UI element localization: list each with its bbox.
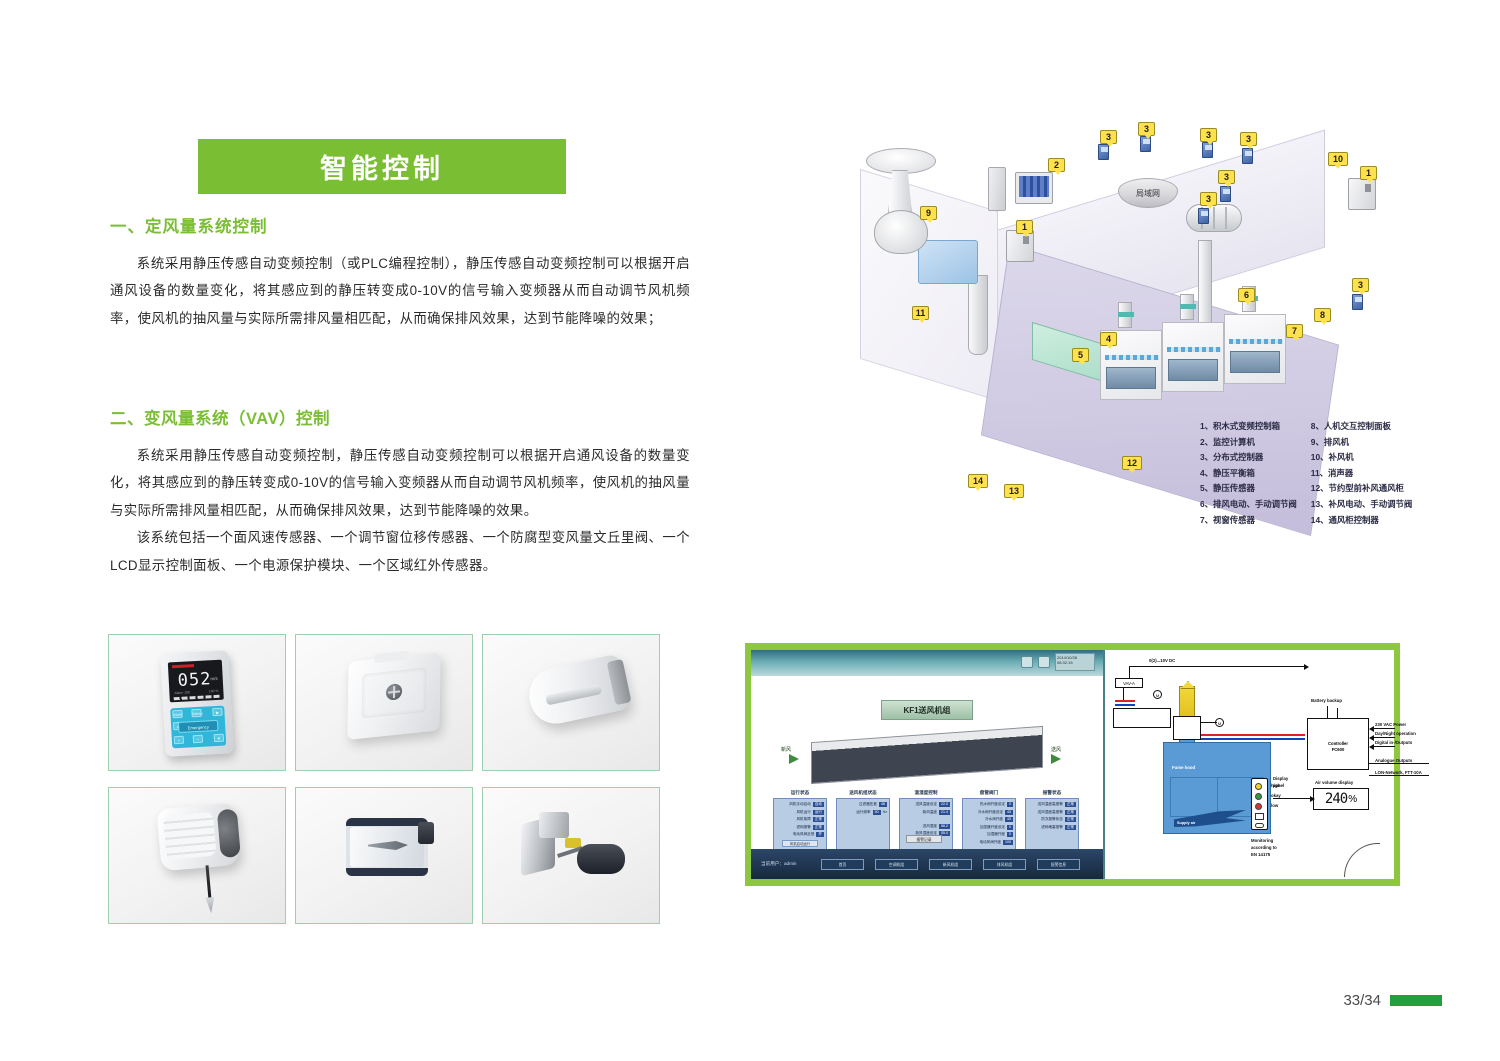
exhaust-damper-box — [1173, 716, 1201, 740]
callout-2: 2 — [1048, 158, 1065, 172]
air-volume-unit: % — [1348, 794, 1357, 805]
monitoring-pc-tower — [988, 167, 1006, 211]
legend-item-2: 2、监控计算机 — [1200, 436, 1297, 448]
p4-r0-label: 送风温度高报警 — [1038, 802, 1063, 807]
p3-r4-value: 0 — [1007, 832, 1013, 837]
callout-3f: 3 — [1200, 192, 1217, 206]
section-two-paragraph-1: 系统采用静压传感自动变频控制，静压传感自动变频控制可以根据开启通风设备的数量变化… — [110, 442, 690, 524]
diagram-legend: 1、积木式变频控制箱 2、监控计算机 3、分布式控制器 4、静压平衡箱 5、静压… — [1200, 420, 1500, 540]
p0-r1-value: 运行 — [813, 810, 824, 815]
hood-control-strip-3 — [1229, 339, 1283, 344]
section-constant-air-volume: 一、定风量系统控制 系统采用静压传感自动变频控制（或PLC编程控制），静压传感自… — [110, 213, 690, 332]
fresh-air-arrow-icon — [789, 754, 799, 764]
vav-schematic-view: 0(2)...10V DC VAV-A M M — [1103, 650, 1394, 879]
probe-tip — [205, 897, 215, 914]
callout-3c: 3 — [1200, 128, 1217, 142]
hmi-tab-ahu[interactable]: 空调机组 — [875, 859, 918, 870]
p2-r0-label: 送风温度设定 — [915, 802, 937, 807]
rotary-knob-icon — [386, 683, 402, 701]
exhaust-duct — [968, 275, 988, 355]
callout-3b: 3 — [1138, 122, 1155, 136]
key-mute[interactable]: Mute — [172, 710, 182, 719]
product-cell-airflow-sensor[interactable] — [482, 634, 660, 771]
controller-fc600-box: Controller FC600 — [1307, 718, 1369, 770]
vav-red-line — [1115, 700, 1135, 702]
section-one-paragraph: 系统采用静压传感自动变频控制（或PLC编程控制），静压传感自动变频控制可以根据开… — [110, 250, 690, 332]
hmi-settings-icon[interactable] — [1021, 656, 1033, 668]
hmi-tab-bar: 首页 空调机组 新风机组 排风机组 报警信息 — [821, 859, 1080, 870]
monitoring-line-2: according to — [1251, 845, 1277, 850]
io-line-1 — [1373, 728, 1395, 729]
lcd-control-panel-image: 052 m/s Alarm 100 100 % Mute Menu ◀ ▶ + … — [160, 650, 233, 756]
panel-lip — [375, 650, 409, 663]
hood-stack-1 — [1118, 302, 1132, 328]
section-variable-air-volume: 二、变风量系统（VAV）控制 系统采用静压传感自动变频控制，静压传感自动变频控制… — [110, 405, 690, 579]
key-minus[interactable]: − — [193, 735, 203, 744]
supply-air-label: 送风 — [1051, 746, 1061, 753]
panel-header-2: 温湿度控制 — [899, 790, 953, 796]
air-handling-unit-graphic — [811, 726, 1043, 784]
p3-r3-value: 0 — [1007, 825, 1013, 830]
led-low-icon — [1255, 803, 1262, 810]
fume-hood-row — [1100, 316, 1310, 402]
hood-sash-2 — [1168, 359, 1218, 381]
schematic-red-bus — [1201, 734, 1305, 736]
section-two-heading: 二、变风量系统（VAV）控制 — [110, 405, 690, 429]
p3-r3-label: 加湿器开度设定 — [980, 825, 1005, 830]
p0-r3-label: 滤网报警 — [796, 825, 810, 830]
callout-8: 8 — [1314, 308, 1331, 322]
display-to-volume-line — [1273, 798, 1311, 799]
venturi-valve-image — [346, 818, 428, 876]
legend-item-3: 3、分布式控制器 — [1200, 451, 1297, 463]
p0-r4-label: 电动风阀反馈 — [793, 832, 815, 837]
io-label-digital: Digital in-/Outputs — [1375, 740, 1412, 745]
led-label-high: high — [1271, 783, 1280, 788]
battery-lead-1 — [1327, 706, 1328, 718]
hood-sash-1 — [1106, 367, 1156, 389]
p1-r1-unit: Hz — [883, 810, 887, 815]
schematic-blue-bus — [1201, 738, 1305, 740]
fan-neck — [888, 170, 912, 214]
hood-stack-2 — [1180, 294, 1194, 320]
hmi-bottom-toolbar: 当前用户：admin 首页 空调机组 新风机组 排风机组 报警信息 — [751, 849, 1103, 879]
monitoring-line-3: EN 14175 — [1251, 852, 1270, 857]
legend-item-1: 1、积木式变频控制箱 — [1200, 420, 1297, 432]
signal-line-drop — [1129, 666, 1130, 678]
exhaust-stack — [1179, 686, 1195, 720]
callout-3a: 3 — [1100, 130, 1117, 144]
p3-r0-label: 热水阀开度设定 — [980, 802, 1005, 807]
hmi-tab-home[interactable]: 首页 — [821, 859, 864, 870]
fresh-air-label: 新风 — [781, 746, 791, 753]
led-okay-icon — [1255, 793, 1262, 800]
system-isometric-diagram: 局域网 3 3 3 3 3 3 2 1 9 11 1 10 3 6 7 8 4 … — [800, 120, 1420, 550]
p2-r1-label: 新风温度 — [923, 810, 937, 815]
p1-r1-value: 50 — [873, 810, 881, 815]
legend-item-10: 10、补风机 — [1311, 451, 1412, 463]
p3-r1-value: 45 — [1005, 810, 1013, 815]
legend-item-4: 4、静压平衡箱 — [1200, 467, 1297, 479]
exhaust-motor-link — [1201, 722, 1217, 723]
p3-r4-label: 加湿器开度 — [987, 832, 1005, 837]
emergency-button[interactable]: Emergency — [178, 720, 219, 733]
product-cell-lcd-control-panel[interactable]: 052 m/s Alarm 100 100 % Mute Menu ◀ ▶ + … — [108, 634, 286, 771]
hmi-clock: 2014/10/28 08:32:15 — [1055, 653, 1095, 671]
key-menu[interactable]: Menu — [191, 709, 201, 718]
monitoring-line-1: Monitoring — [1251, 838, 1273, 843]
key-down[interactable]: ▼ — [214, 734, 224, 743]
controller-model: FC600 — [1308, 747, 1368, 753]
distributed-controller-node-4 — [1242, 148, 1253, 164]
fume-hood-label: Fume hood — [1172, 765, 1195, 770]
io-line-3 — [1373, 746, 1395, 747]
probe-stem — [206, 865, 212, 899]
sensor-slot — [545, 684, 602, 705]
supply-air-arrow-icon — [1051, 754, 1061, 764]
hmi-tab-exhaust[interactable]: 排风机组 — [983, 859, 1026, 870]
hmi-tab-freshair[interactable]: 新风机组 — [929, 859, 972, 870]
p0-r0-label: 风机手动自动 — [789, 802, 811, 807]
product-cell-infrared-sensor[interactable] — [108, 787, 286, 924]
callout-13: 13 — [1004, 484, 1024, 498]
product-cell-venturi-valve[interactable] — [295, 787, 473, 924]
section-two-paragraph-2: 该系统包括一个面风速传感器、一个调节窗位移传感器、一个防腐型变风量文丘里阀、一个… — [110, 524, 690, 579]
io-line-2 — [1373, 737, 1395, 738]
hood-control-strip-1 — [1105, 355, 1159, 360]
distributed-controller-node-5 — [1220, 186, 1231, 202]
supply-air-label: Supply air — [1177, 821, 1195, 825]
lcd-segment-bar — [174, 695, 220, 700]
p3-r5-label: 电动风阀开度 — [979, 840, 1001, 845]
signal-line-top — [1129, 666, 1305, 667]
legend-item-14: 14、通风柜控制器 — [1311, 514, 1412, 526]
hmi-top-toolbar[interactable]: 2014/10/28 08:32:15 — [751, 650, 1103, 676]
callout-5: 5 — [1072, 348, 1089, 362]
p2-r2-value: 56.2 — [939, 824, 950, 829]
callout-4: 4 — [1100, 332, 1117, 346]
battery-backup-label: Battery backup — [1311, 698, 1342, 703]
legend-column-right: 8、人机交互控制面板 9、排风机 10、补风机 11、消声器 12、节约型前补风… — [1311, 420, 1412, 526]
p4-r3-value: 正常 — [1065, 825, 1076, 830]
fan-start-button[interactable]: 风机启动运行 — [782, 840, 818, 847]
callout-6: 6 — [1238, 288, 1255, 302]
battery-lead-2 — [1337, 708, 1338, 718]
display-panel-readout — [1255, 823, 1264, 828]
p0-r0-value: 自动 — [813, 802, 824, 807]
callout-10: 10 — [1328, 152, 1348, 166]
p0-r1-label: 风机运行 — [796, 810, 810, 815]
callout-3g: 3 — [1352, 278, 1369, 292]
p3-r0-value: 0 — [1007, 802, 1013, 807]
wall-mounted-sensor-panel-image — [347, 652, 440, 740]
hmi-unit-title: KF1送风机组 — [881, 700, 973, 720]
legend-column-left: 1、积木式变频控制箱 2、监控计算机 3、分布式控制器 4、静压平衡箱 5、静压… — [1200, 420, 1297, 526]
callout-14: 14 — [968, 474, 988, 488]
p4-r2-value: 正常 — [1065, 817, 1076, 822]
p4-r3-label: 滤网堵塞报警 — [1041, 825, 1063, 830]
supply-air-flow: Supply air — [1174, 810, 1246, 827]
distributed-controller-node-7 — [1352, 294, 1363, 310]
key-plus[interactable]: + — [174, 736, 184, 745]
p4-r2-label: 防冻报警状态 — [1041, 817, 1063, 822]
air-volume-display-title: Air volume display — [1315, 780, 1353, 785]
io-label-daynight: Day/Night operation — [1375, 731, 1416, 736]
hmi-toolbar-icons: 2014/10/28 08:32:15 — [1021, 653, 1095, 671]
legend-item-12: 12、节约型前补风通风柜 — [1311, 482, 1412, 494]
vav-blue-line — [1115, 704, 1135, 706]
lcd-sub-left: Alarm 100 — [174, 690, 190, 695]
callout-9: 9 — [920, 206, 937, 220]
p2-r0-value: 22.0 — [939, 802, 950, 807]
product-cell-damper-assembly[interactable] — [482, 787, 660, 924]
p3-r2-label: 冷水阀开度 — [985, 817, 1003, 822]
legend-item-7: 7、视窗传感器 — [1200, 514, 1297, 526]
page-number: 33/34 — [1343, 992, 1381, 1009]
damper-motor — [577, 844, 625, 874]
display-panel-graphic — [1251, 778, 1268, 830]
product-cell-wall-sensor-panel[interactable] — [295, 634, 473, 771]
p0-r4-value: 开 — [816, 832, 824, 837]
hmi-status-text: 当前用户：admin — [761, 861, 821, 867]
lcd-unit: m/s — [210, 676, 218, 681]
callout-1b: 1 — [1360, 166, 1377, 180]
legend-item-13: 13、补风电动、手动调节阀 — [1311, 498, 1412, 510]
key-right[interactable]: ▶ — [212, 708, 222, 717]
hmi-tab-alarms[interactable]: 报警信息 — [1037, 859, 1080, 870]
hood-control-strip-2 — [1167, 347, 1221, 352]
led-label-low: low — [1271, 803, 1278, 808]
p3-r5-value: 100 — [1003, 840, 1013, 845]
footer-accent-bar — [1390, 995, 1442, 1006]
p1-r0-value: 48 — [879, 802, 887, 807]
p4-r1-label: 送风湿度高报警 — [1038, 810, 1063, 815]
valve-actuator — [418, 822, 434, 844]
hmi-scada-view: 2014/10/28 08:32:15 KF1送风机组 新风 送风 运行状态 风… — [751, 650, 1103, 879]
left-content-column: 智能控制 一、定风量系统控制 系统采用静压传感自动变频控制（或PLC编程控制），… — [0, 0, 740, 1061]
legend-item-8: 8、人机交互控制面板 — [1311, 420, 1412, 432]
lan-label: 局域网 — [1136, 188, 1160, 199]
section-one-heading: 一、定风量系统控制 — [110, 213, 690, 237]
damper-duct-upper — [539, 812, 569, 838]
io-line-5 — [1369, 775, 1429, 776]
page-root: 智能控制 一、定风量系统控制 系统采用静压传感自动变频控制（或PLC编程控制），… — [0, 0, 1500, 1061]
airflow-velocity-sensor-image — [524, 654, 630, 729]
air-volume-display: 240 % — [1313, 788, 1369, 810]
product-image-grid: 052 m/s Alarm 100 100 % Mute Menu ◀ ▶ + … — [108, 634, 668, 924]
air-volume-value: 240 — [1325, 791, 1347, 807]
callout-3d: 3 — [1240, 132, 1257, 146]
distributed-controller-node-6 — [1198, 208, 1209, 224]
supply-air-duct — [1198, 240, 1212, 326]
brand-stripe — [172, 664, 194, 668]
legend-item-6: 6、排风电动、手动调节阀 — [1200, 498, 1297, 510]
vav-damper-box — [1113, 708, 1171, 728]
lcd-value: 052 — [177, 669, 212, 691]
page-title: 智能控制 — [320, 147, 444, 186]
p1-r0-label: 过滤器压差 — [859, 802, 877, 807]
panel-header-3: 盘管阀门 — [962, 790, 1016, 796]
vav-a-box: VAV-A — [1115, 678, 1143, 688]
io-line-4 — [1369, 763, 1429, 764]
fume-hood-unit-3 — [1224, 314, 1286, 384]
legend-item-11: 11、消声器 — [1311, 467, 1412, 479]
p3-r1-label: 冷水阀开度设定 — [978, 810, 1003, 815]
keypad[interactable]: Mute Menu ◀ ▶ + − ▼ Emergency — [170, 706, 226, 749]
callout-11: 11 — [912, 306, 929, 320]
panel-header-1: 送风机组状态 — [836, 790, 890, 796]
legend-item-5: 5、静压传感器 — [1200, 482, 1297, 494]
vav-motor-icon: M — [1153, 690, 1162, 699]
hmi-screenshot-frame: 2014/10/28 08:32:15 KF1送风机组 新风 送风 运行状态 风… — [745, 643, 1400, 886]
p4-r0-value: 正常 — [1065, 802, 1076, 807]
hood-sash-3 — [1230, 351, 1280, 373]
hmi-link-icon[interactable] — [1038, 656, 1050, 668]
p2-r2-label: 送风湿度 — [923, 824, 937, 829]
callout-1a: 1 — [1016, 220, 1033, 234]
page-footer: 33/34 — [1343, 992, 1442, 1009]
page-title-banner: 智能控制 — [198, 139, 566, 194]
legend-item-9: 9、排风机 — [1311, 436, 1412, 448]
p1-r1-label: 运行频率 — [856, 810, 870, 815]
pc-screen — [1019, 176, 1049, 197]
sensor-end-cap — [607, 659, 632, 705]
lcd-screen: 052 m/s Alarm 100 100 % — [168, 660, 224, 703]
panel-header-4: 报警状态 — [1025, 790, 1079, 796]
p3-r2-value: 45 — [1005, 817, 1013, 822]
sensor-probe-group — [156, 803, 239, 872]
p0-r2-label: 风机故障 — [796, 817, 810, 822]
led-high-icon — [1255, 783, 1262, 790]
display-panel-label-1: Display — [1273, 776, 1288, 781]
callout-3e: 3 — [1218, 170, 1235, 184]
alarm-log-button[interactable]: 报警记录 — [906, 835, 942, 843]
p2-r1-value: 21.4 — [939, 810, 950, 815]
hmi-screen: 2014/10/28 08:32:15 KF1送风机组 新风 送风 运行状态 风… — [751, 650, 1394, 879]
callout-7: 7 — [1286, 324, 1303, 338]
fume-hood-unit-2 — [1162, 322, 1224, 392]
display-panel-button[interactable] — [1255, 813, 1264, 820]
signal-range-label: 0(2)...10V DC — [1149, 658, 1175, 663]
supply-air-fan — [1186, 204, 1242, 232]
lcd-sub-right: 100 % — [209, 689, 219, 693]
exhaust-stack-cap — [1176, 681, 1200, 689]
p4-r1-value: 正常 — [1065, 810, 1076, 815]
callout-12: 12 — [1122, 456, 1142, 470]
panel-header-0: 运行状态 — [773, 790, 827, 796]
monitoring-pc-monitor — [1015, 172, 1053, 204]
p0-r2-value: 正常 — [813, 817, 824, 822]
vav-schematic: 0(2)...10V DC VAV-A M M — [1105, 650, 1394, 879]
room-door-swing-icon — [1344, 843, 1380, 877]
io-label-power: 230 VAC Power — [1375, 722, 1406, 727]
motorized-damper-assembly-image — [521, 810, 631, 888]
p0-r3-value: 正常 — [813, 825, 824, 830]
panel-face — [362, 668, 427, 719]
